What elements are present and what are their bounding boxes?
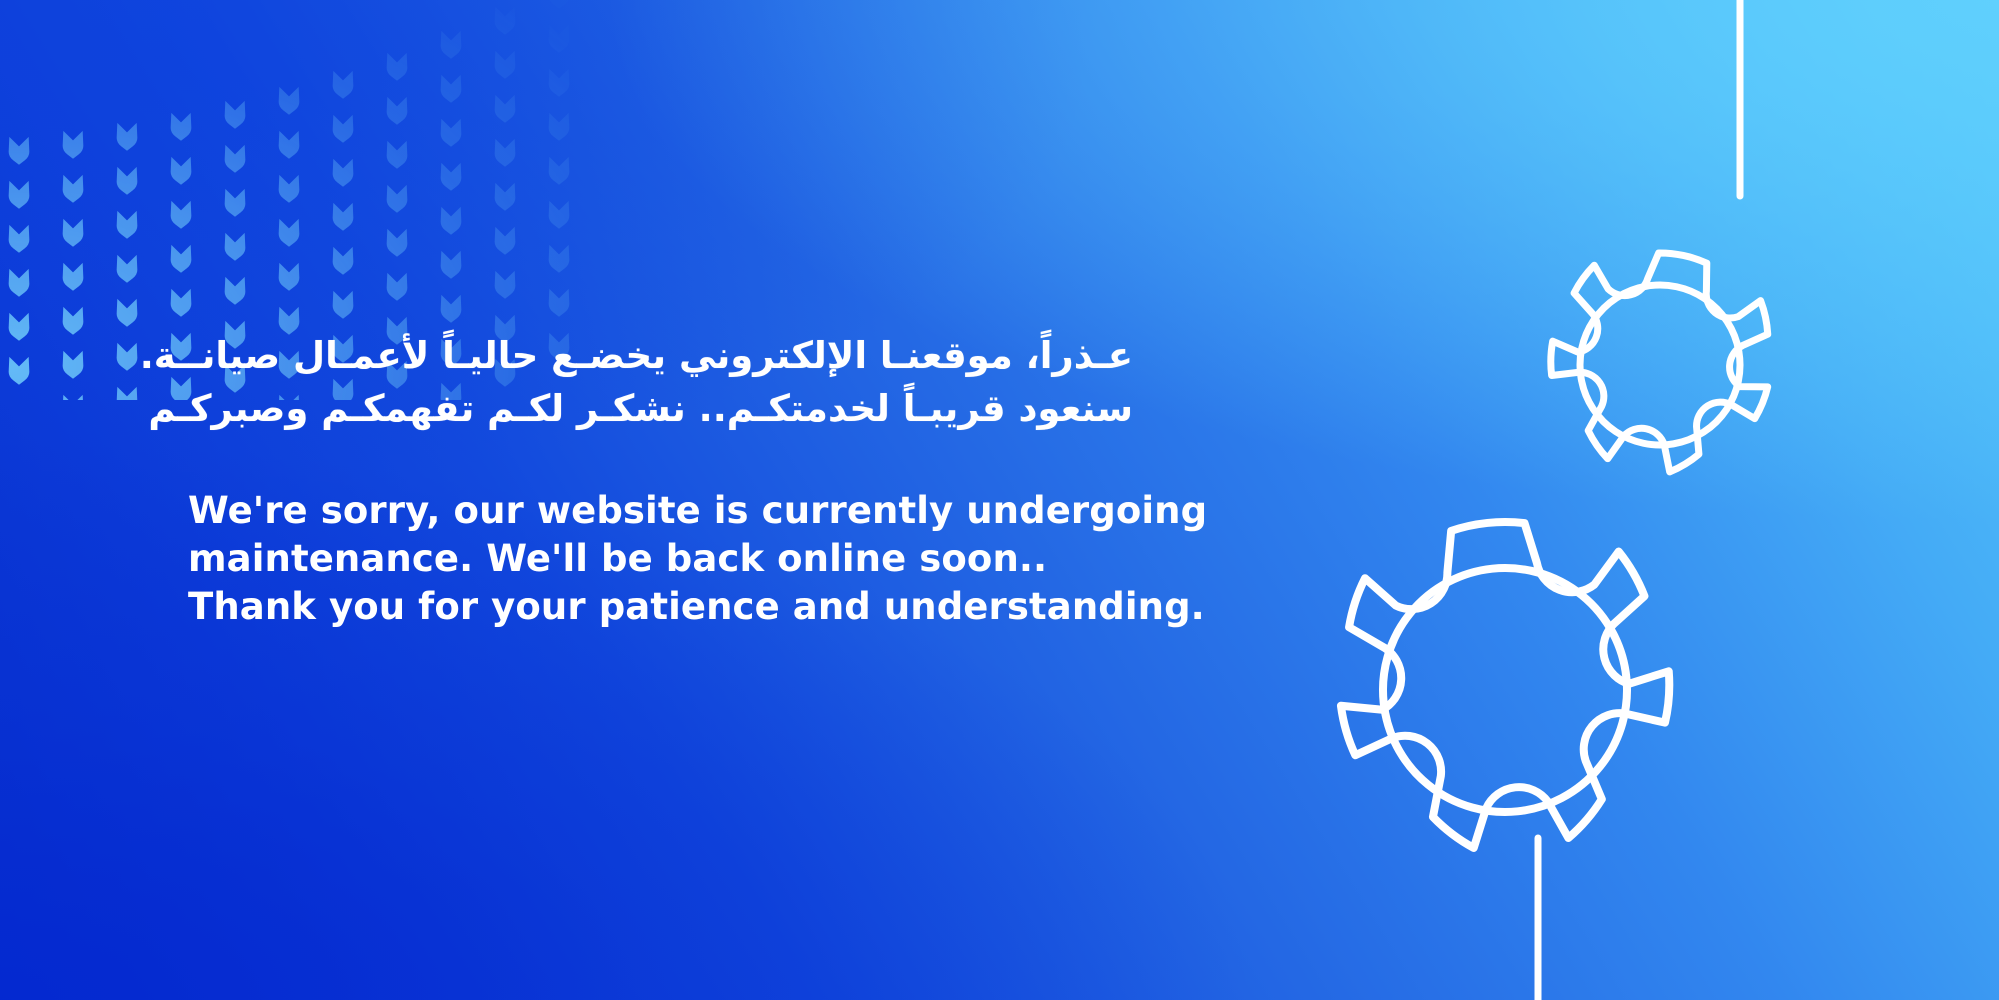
arabic-message: عـذراً، موقعنـا الإلكتروني يخضـع حاليـاً… [188, 330, 1133, 435]
english-line-2: maintenance. We'll be back online soon.. [188, 535, 1133, 583]
english-line-3: Thank you for your patience and understa… [188, 583, 1133, 631]
english-line-1: We're sorry, our website is currently un… [188, 487, 1133, 535]
english-message: We're sorry, our website is currently un… [188, 435, 1133, 631]
arabic-line-2: سنعود قريبـاً لخدمتكـم.. نشكـر لكـم تفهم… [188, 383, 1133, 436]
arabic-line-1: عـذراً، موقعنـا الإلكتروني يخضـع حاليـاً… [188, 330, 1133, 383]
maintenance-page: عـذراً، موقعنـا الإلكتروني يخضـع حاليـاً… [0, 0, 1999, 1000]
maintenance-message: عـذراً، موقعنـا الإلكتروني يخضـع حاليـاً… [188, 330, 1133, 631]
